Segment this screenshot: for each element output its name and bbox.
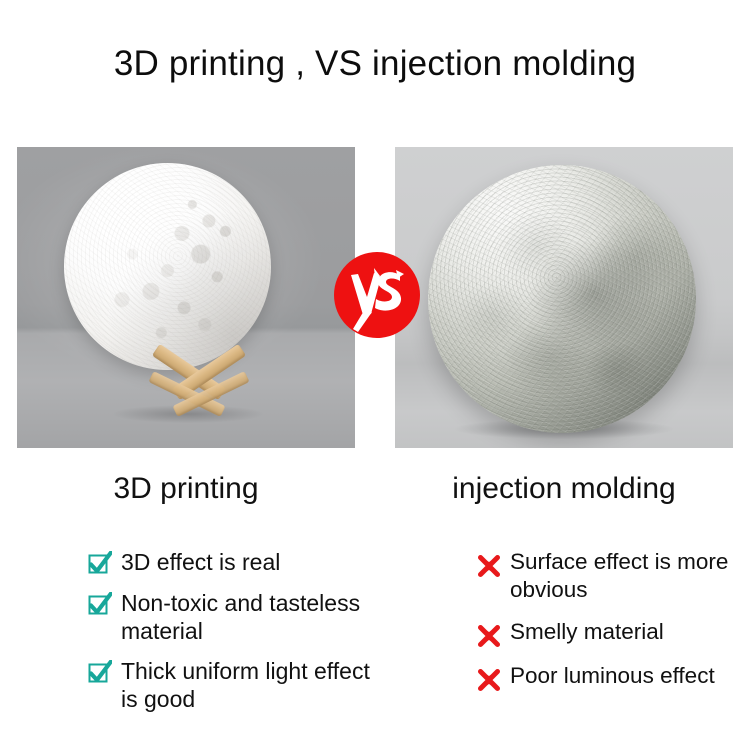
check-icon <box>86 660 112 686</box>
product-photo-3d-printing <box>17 147 355 448</box>
list-item-label: Poor luminous effect <box>510 662 715 690</box>
column-caption-3d-printing: 3D printing <box>17 470 355 508</box>
list-item-label: Non-toxic and tasteless material <box>121 589 376 645</box>
feature-list-3d-printing: 3D effect is real Non-toxic and tasteles… <box>86 548 376 725</box>
check-icon <box>86 592 112 618</box>
product-photo-injection-molding <box>395 147 733 448</box>
vs-badge-icon <box>334 252 420 338</box>
column-caption-injection-molding: injection molding <box>395 470 733 508</box>
list-item: Poor luminous effect <box>476 662 750 692</box>
list-item: Non-toxic and tasteless material <box>86 589 376 645</box>
molded-sphere-icon <box>428 165 696 433</box>
feature-list-injection-molding: Surface effect is more obvious Smelly ma… <box>476 548 750 706</box>
list-item-label: Thick uniform light effect is good <box>121 657 376 713</box>
wooden-stand-icon <box>145 343 253 417</box>
list-item-label: Surface effect is more obvious <box>510 548 750 604</box>
list-item: Smelly material <box>476 618 750 648</box>
cross-icon <box>476 552 502 578</box>
page-title: 3D printing , VS injection molding <box>0 42 750 86</box>
vs-badge <box>334 252 420 338</box>
list-item-label: Smelly material <box>510 618 664 646</box>
list-item: Surface effect is more obvious <box>476 548 750 604</box>
check-icon <box>86 551 112 577</box>
list-item-label: 3D effect is real <box>121 548 280 576</box>
list-item: 3D effect is real <box>86 548 376 577</box>
list-item: Thick uniform light effect is good <box>86 657 376 713</box>
moon-lamp-sphere-icon <box>64 163 271 370</box>
cross-icon <box>476 622 502 648</box>
cross-icon <box>476 666 502 692</box>
